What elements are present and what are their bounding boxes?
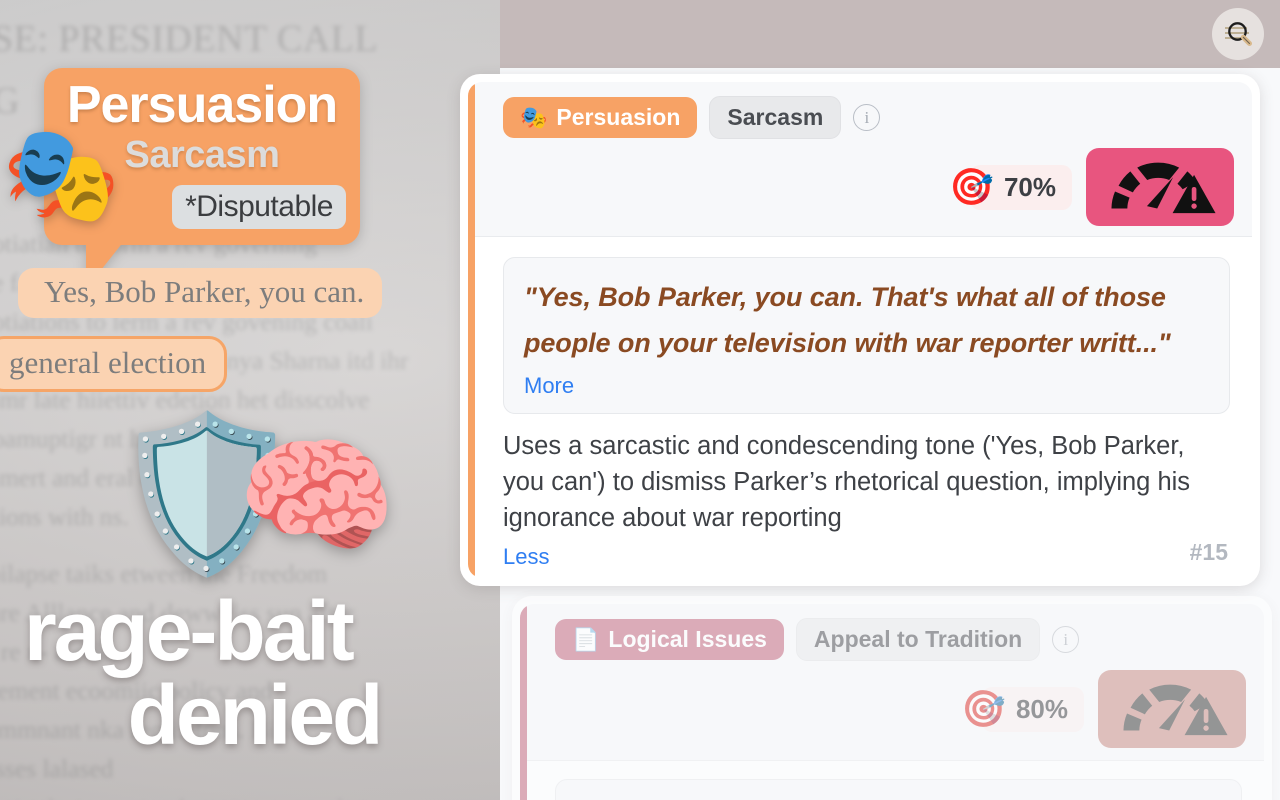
subtype-chip-label: Appeal to Tradition: [814, 628, 1022, 651]
quote-box: "In the olden days, we had a tradition w…: [555, 779, 1242, 800]
score-row: 🎯 80%: [555, 670, 1246, 748]
info-icon[interactable]: i: [1052, 626, 1079, 653]
category-chip-label: Logical Issues: [608, 628, 767, 651]
confidence-score: 🎯 80%: [961, 687, 1084, 732]
brain-icon: 🧠: [237, 425, 396, 568]
subtype-chip[interactable]: Sarcasm: [709, 96, 841, 139]
bullseye-icon: 🎯: [949, 169, 994, 205]
card-header: 📄 Logical Issues Appeal to Tradition i 🎯…: [527, 604, 1264, 761]
background-headline: SE: PRESIDENT CALL: [0, 0, 530, 70]
info-icon[interactable]: i: [853, 104, 880, 131]
chip-row: 📄 Logical Issues Appeal to Tradition i: [555, 618, 1246, 661]
document-icon: 📄: [572, 629, 599, 651]
card-accent-bar: [468, 82, 475, 578]
theater-masks-icon: 🎭: [520, 107, 547, 129]
screen-root: SE: PRESIDENT CALL G otiatian to form a …: [0, 0, 1280, 800]
category-chip[interactable]: 🎭 Persuasion: [503, 97, 697, 138]
highlight-quote-1: Yes, Bob Parker, you can.: [18, 268, 382, 318]
shield-brain-graphic: 🛡️🧠: [112, 418, 397, 570]
search-button[interactable]: [1212, 8, 1264, 60]
quote-more-link[interactable]: More: [524, 373, 574, 399]
card-header: 🎭 Persuasion Sarcasm i 🎯 70%: [475, 82, 1252, 237]
app-topbar: [500, 0, 1280, 68]
explanation-text: Uses a sarcastic and condescending tone …: [503, 428, 1224, 537]
card-inner: 🎭 Persuasion Sarcasm i 🎯 70%: [468, 82, 1252, 578]
search-icon: [1221, 17, 1255, 51]
banner-line-1: rage-bait: [24, 584, 352, 678]
card-body: 🎭 Persuasion Sarcasm i 🎯 70%: [468, 82, 1252, 578]
category-chip[interactable]: 📄 Logical Issues: [555, 619, 784, 660]
chip-row: 🎭 Persuasion Sarcasm i: [503, 96, 1234, 139]
analysis-card-logical-issues[interactable]: 📄 Logical Issues Appeal to Tradition i 🎯…: [512, 596, 1272, 800]
bg-line: uont ssiprtoss; ateeriumptne evpprsisg-: [0, 788, 530, 800]
quote-text: "Yes, Bob Parker, you can. That's what a…: [524, 274, 1209, 367]
card-number: #15: [1190, 539, 1228, 566]
quote-box: "Yes, Bob Parker, you can. That's what a…: [503, 257, 1230, 414]
gauge-warning-icon: [1116, 680, 1228, 738]
banner-text: rage-bait denied: [24, 592, 484, 756]
bullseye-icon: 🎯: [961, 691, 1006, 727]
analysis-card-persuasion[interactable]: 🎭 Persuasion Sarcasm i 🎯 70%: [460, 74, 1260, 586]
subtype-chip-label: Sarcasm: [727, 106, 823, 129]
highlight-quote-2: general election: [0, 336, 227, 392]
disputable-tag: *Disputable: [172, 185, 346, 229]
gauge-warning-icon: [1104, 158, 1216, 216]
subtype-chip[interactable]: Appeal to Tradition: [796, 618, 1040, 661]
theater-masks-icon: 🎭: [2, 128, 120, 223]
quote-text: "In the olden days, we had a tradition w…: [576, 796, 1221, 800]
card-accent-bar: [520, 604, 527, 800]
banner-line-2: denied: [24, 676, 484, 756]
score-row: 🎯 70%: [503, 148, 1234, 226]
card-body: 📄 Logical Issues Appeal to Tradition i 🎯…: [520, 604, 1264, 800]
category-chip-label: Persuasion: [556, 106, 680, 129]
explanation-less-link[interactable]: Less: [503, 544, 549, 570]
card-inner: 📄 Logical Issues Appeal to Tradition i 🎯…: [520, 604, 1264, 800]
severity-gauge-badge: [1098, 670, 1246, 748]
confidence-score: 🎯 70%: [949, 165, 1072, 210]
severity-gauge-badge: [1086, 148, 1234, 226]
